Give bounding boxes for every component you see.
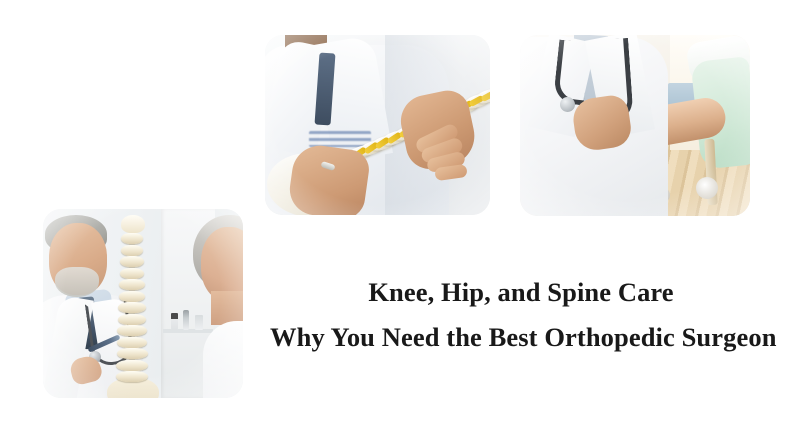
spine-model-vertebra bbox=[121, 245, 144, 256]
spine-vignette bbox=[265, 35, 490, 215]
spine-model-vertebra bbox=[120, 256, 144, 267]
poster-canvas: Knee, Hip, and Spine Care Why You Need t… bbox=[0, 0, 800, 445]
headline-line-1: Knee, Hip, and Spine Care bbox=[270, 278, 772, 307]
spine-model-vertebra bbox=[117, 325, 146, 336]
spine-model-vertebra bbox=[119, 291, 146, 302]
headline-block: Knee, Hip, and Spine Care Why You Need t… bbox=[270, 278, 772, 352]
spine-model-vertebra bbox=[117, 348, 148, 359]
image-spine-model-in-hands bbox=[265, 35, 490, 215]
spine-model-vertebra bbox=[119, 279, 145, 290]
spine-model-vertebra bbox=[116, 371, 149, 382]
spine-model-vertebra bbox=[120, 268, 145, 279]
exam-vignette bbox=[520, 35, 750, 216]
spine-model-vertebra bbox=[118, 314, 146, 325]
image-doctor-patient-consultation bbox=[43, 209, 243, 398]
spine-model-vertebra bbox=[117, 337, 147, 348]
spine-model-vertebra bbox=[118, 302, 145, 313]
spine-model-vertebra bbox=[116, 360, 148, 371]
headline-line-2: Why You Need the Best Orthopedic Surgeon bbox=[270, 323, 772, 352]
spine-model-vertebra bbox=[121, 233, 143, 244]
image-leg-examination bbox=[520, 35, 750, 216]
